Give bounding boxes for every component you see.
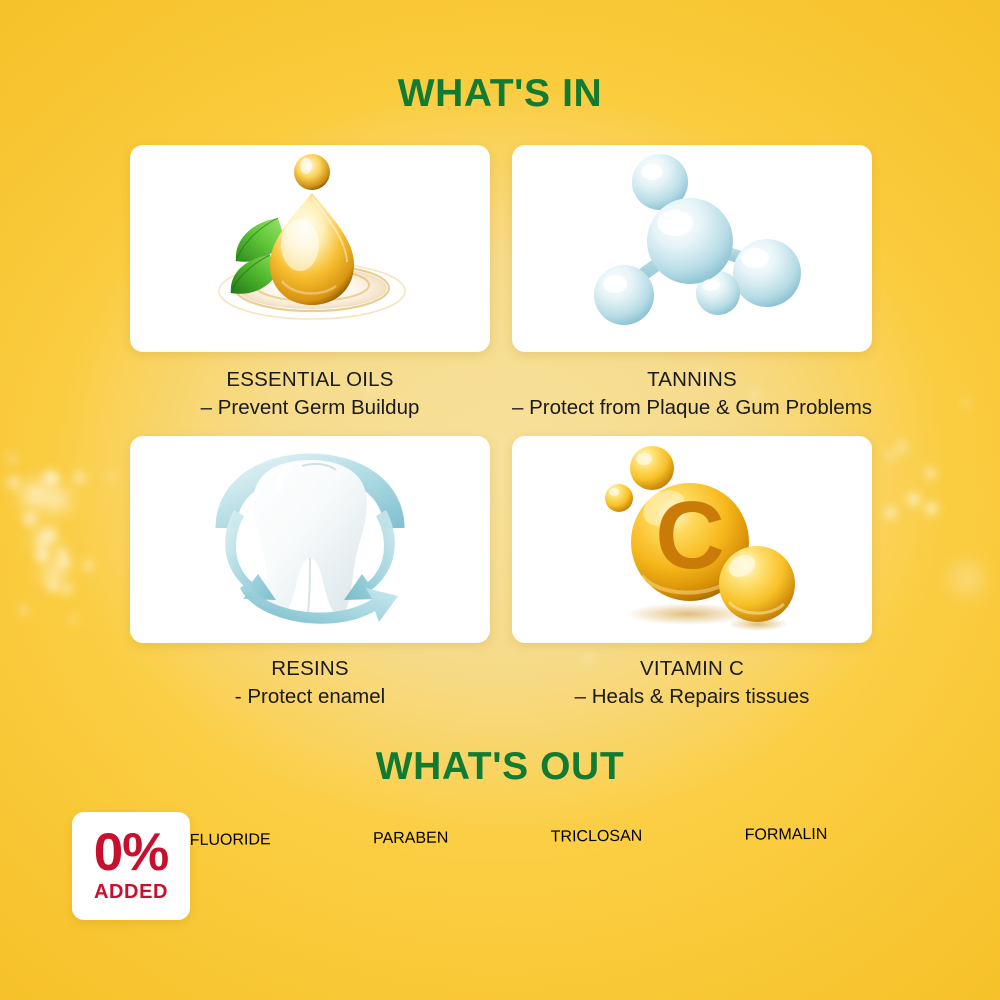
svg-text:C: C bbox=[655, 482, 724, 589]
oil-droplet-leaves-icon bbox=[130, 145, 490, 352]
ingredient-name: ESSENTIAL OILS bbox=[130, 366, 490, 394]
ingredient-benefit: - Protect enamel bbox=[130, 683, 490, 711]
ingredient-caption-essential-oils: ESSENTIAL OILS – Prevent Germ Buildup bbox=[130, 366, 490, 422]
vitamin-c-capsule-icon: C bbox=[512, 436, 872, 643]
ingredient-card-essential-oils[interactable] bbox=[130, 145, 490, 352]
ingredient-caption-resins: RESINS - Protect enamel bbox=[130, 655, 490, 711]
ingredient-caption-tannins: TANNINS – Protect from Plaque & Gum Prob… bbox=[512, 366, 872, 422]
ingredient-name: VITAMIN C bbox=[512, 655, 872, 683]
excluded-pill-formalin[interactable]: FORMALIN bbox=[745, 825, 931, 893]
badge-percent: 0% bbox=[94, 828, 169, 878]
ingredient-name: TANNINS bbox=[512, 366, 872, 394]
ingredient-card-tannins[interactable] bbox=[512, 145, 872, 352]
whats-out-bar: 0% ADDED FLUORIDE PARABEN TRICLOSAN FORM… bbox=[0, 812, 1000, 920]
molecule-icon bbox=[512, 145, 872, 352]
badge-label: ADDED bbox=[94, 880, 168, 904]
ingredient-benefit: – Prevent Germ Buildup bbox=[130, 394, 490, 422]
ingredient-card-resins[interactable] bbox=[130, 436, 490, 643]
zero-percent-added-badge: 0% ADDED bbox=[72, 812, 190, 920]
excluded-pill-fluoride[interactable]: FLUORIDE bbox=[190, 830, 374, 898]
ingredient-name: RESINS bbox=[130, 655, 490, 683]
excluded-pill-triclosan[interactable]: TRICLOSAN bbox=[551, 827, 746, 895]
ingredient-benefit: – Heals & Repairs tissues bbox=[512, 683, 872, 711]
excluded-pill-paraben[interactable]: PARABEN bbox=[373, 829, 551, 897]
ingredient-caption-vitamin-c: VITAMIN C – Heals & Repairs tissues bbox=[512, 655, 872, 711]
ingredient-card-vitamin-c[interactable]: C bbox=[512, 436, 872, 643]
tooth-arrows-icon bbox=[130, 436, 490, 643]
ingredient-benefit: – Protect from Plaque & Gum Problems bbox=[512, 394, 872, 422]
excluded-ingredients-list: FLUORIDE PARABEN TRICLOSAN FORMALIN bbox=[190, 825, 931, 898]
